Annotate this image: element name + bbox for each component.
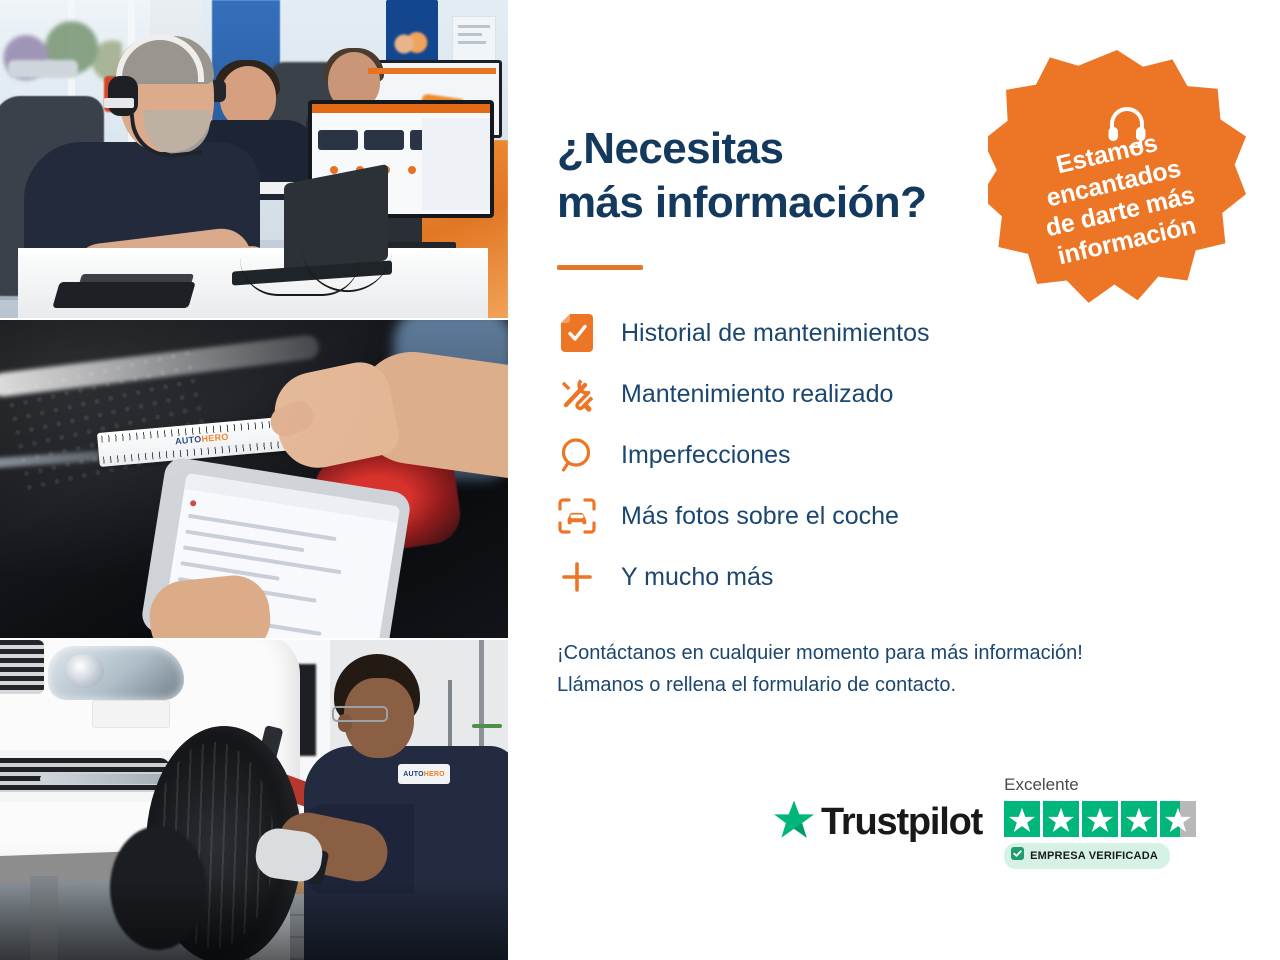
feature-label: Más fotos sobre el coche xyxy=(621,504,899,529)
feature-item-mas: Y mucho más xyxy=(557,557,929,597)
trustpilot-rating: Excelente xyxy=(1004,775,1196,869)
tools-icon xyxy=(557,374,597,414)
headlight xyxy=(48,646,184,700)
star-filled xyxy=(1121,801,1157,837)
car-photo-frame-icon xyxy=(557,496,597,536)
title-divider xyxy=(557,265,643,270)
feature-item-fotos: Más fotos sobre el coche xyxy=(557,496,929,536)
feature-label: Mantenimiento realizado xyxy=(621,382,893,407)
plus-icon xyxy=(557,557,597,597)
feature-label: Y mucho más xyxy=(621,565,773,590)
promo-page: AUTOHERO xyxy=(0,0,1280,960)
photo-column: AUTOHERO xyxy=(0,0,508,960)
star-filled xyxy=(1082,801,1118,837)
trustpilot-block: Trustpilot Excelente xyxy=(773,775,1196,869)
feature-item-historial: Historial de mantenimientos xyxy=(557,313,929,353)
star-partial xyxy=(1160,801,1196,837)
feature-list: Historial de mantenimientos Mantenimient… xyxy=(557,313,929,597)
status-badge: Estamos encantados de darte más informac… xyxy=(988,50,1246,312)
trustpilot-star-icon xyxy=(773,799,815,846)
contact-text: ¡Contáctanos en cualquier momento para m… xyxy=(557,637,1237,702)
page-title: ¿Necesitas más información? xyxy=(557,122,997,229)
trustpilot-logo: Trustpilot xyxy=(773,799,982,846)
car-inspection-ruler-photo: AUTOHERO xyxy=(0,320,508,638)
feature-item-imperfecciones: Imperfecciones xyxy=(557,435,929,475)
badge-text: Estamos encantados de darte más informac… xyxy=(1030,123,1204,272)
feature-label: Historial de mantenimientos xyxy=(621,321,929,346)
polo-brand-badge: AUTOHERO xyxy=(398,764,450,784)
rating-label: Excelente xyxy=(1004,775,1079,795)
feature-item-mantenimiento: Mantenimiento realizado xyxy=(557,374,929,414)
content-panel: ¿Necesitas más información? Historial de… xyxy=(508,0,1280,960)
badge-text-wrap: Estamos encantados de darte más informac… xyxy=(988,50,1246,312)
feature-label: Imperfecciones xyxy=(621,443,791,468)
safety-glasses xyxy=(332,706,388,722)
verified-label: EMPRESA VERIFICADA xyxy=(1030,850,1158,862)
check-badge-icon xyxy=(1011,847,1024,865)
star-rating xyxy=(1004,801,1196,837)
call-center-agents-photo xyxy=(0,0,508,318)
trustpilot-wordmark: Trustpilot xyxy=(821,801,982,844)
star-filled xyxy=(1004,801,1040,837)
workshop-wheel-technician-photo: AUTOHERO xyxy=(0,640,508,960)
verified-company-badge: EMPRESA VERIFICADA xyxy=(1004,843,1170,869)
magnifier-icon xyxy=(557,435,597,475)
document-check-icon xyxy=(557,313,597,353)
star-filled xyxy=(1043,801,1079,837)
